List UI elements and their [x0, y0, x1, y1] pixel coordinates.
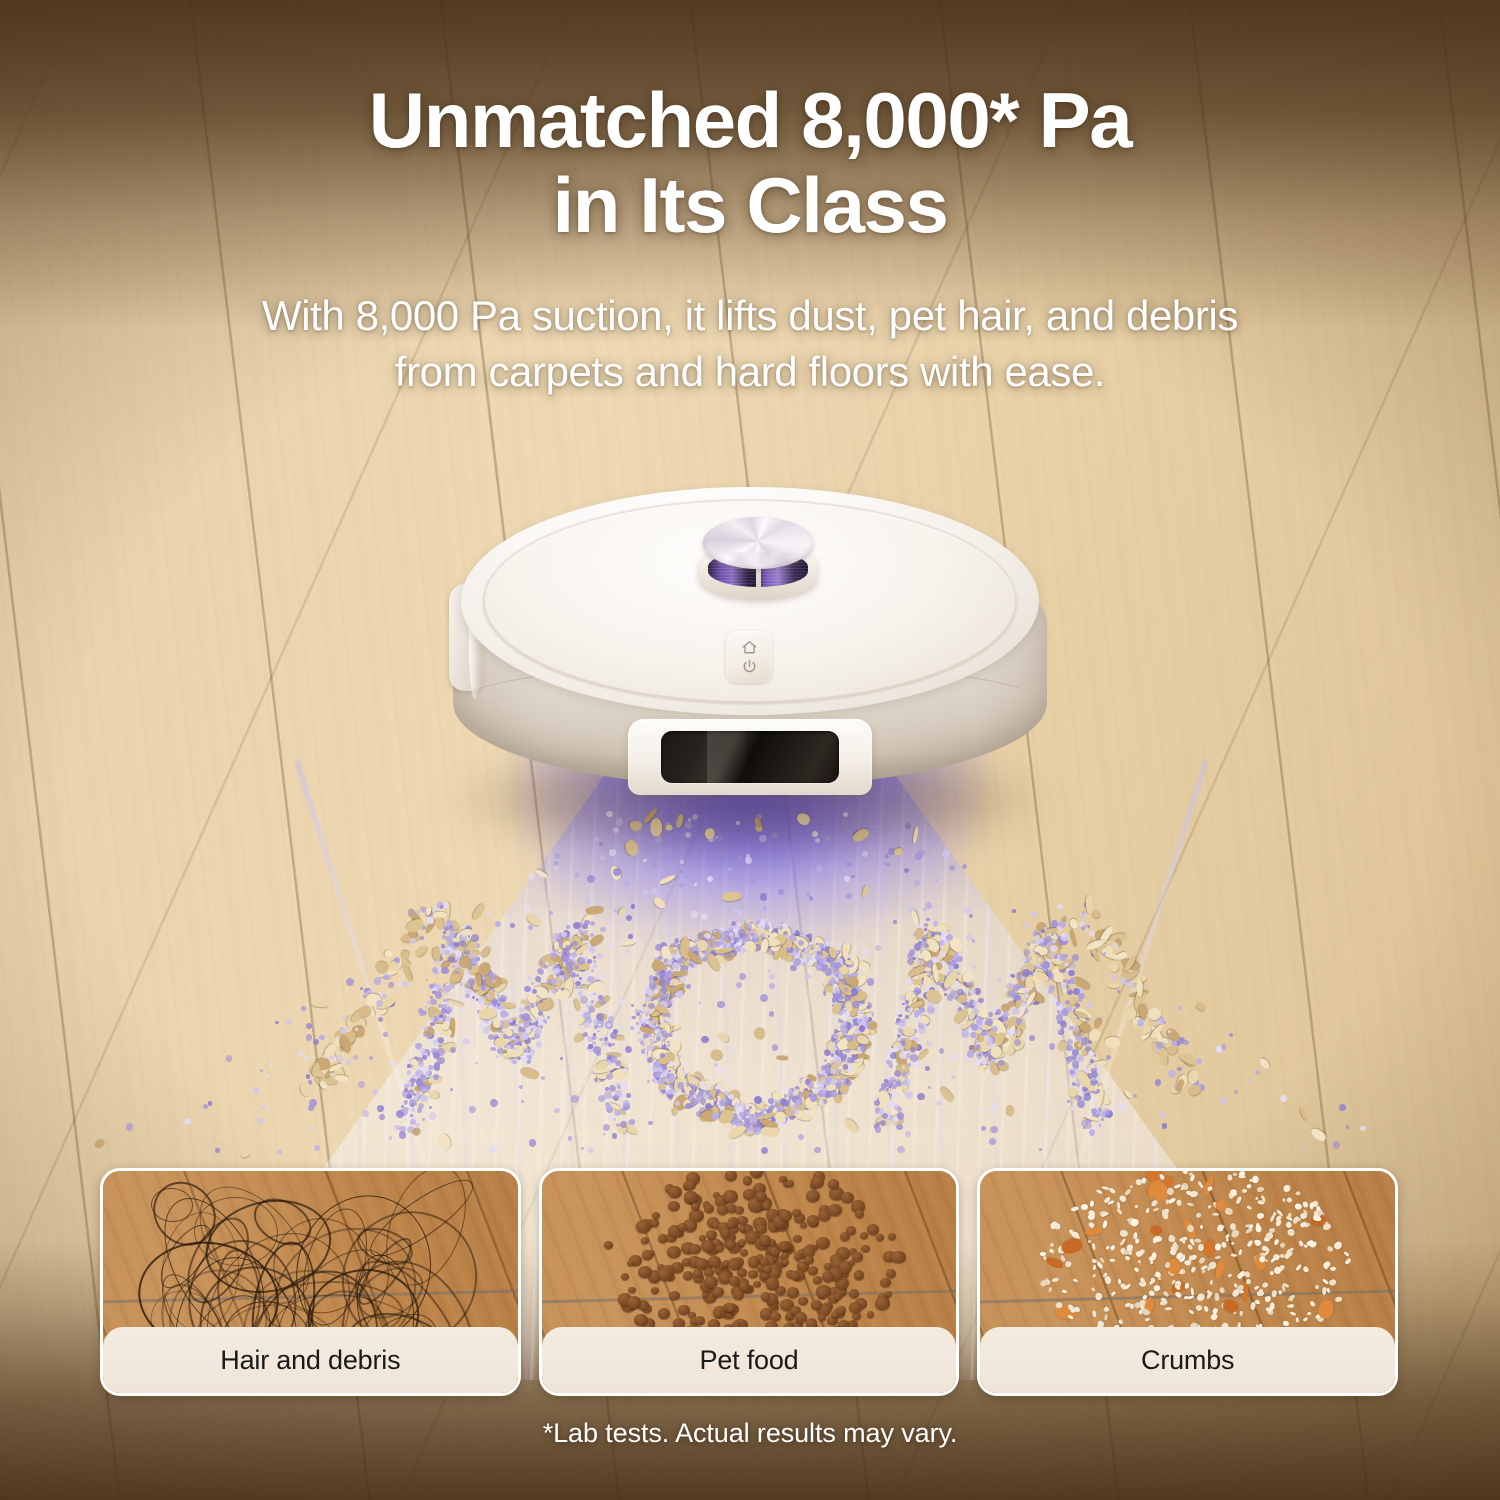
crumb-piece: [1080, 1203, 1088, 1211]
crumb-piece: [1109, 1258, 1115, 1262]
kibble-piece: [669, 1291, 680, 1300]
crumb-piece: [1136, 1179, 1142, 1185]
obstacle-sensor-window: [661, 731, 839, 783]
kibble-piece: [806, 1190, 820, 1202]
kibble-piece: [794, 1253, 801, 1260]
kibble-piece: [717, 1205, 729, 1215]
robot-control-panel[interactable]: [726, 631, 772, 683]
kibble-piece: [651, 1287, 659, 1294]
card-caption-crumbs: Crumbs: [980, 1327, 1395, 1393]
kibble-piece: [880, 1278, 891, 1288]
kibble-piece: [689, 1244, 701, 1255]
kibble-piece: [739, 1225, 747, 1232]
crumb-piece: [1230, 1223, 1236, 1230]
kibble-piece: [651, 1219, 659, 1226]
kibble-piece: [798, 1297, 807, 1305]
kibble-piece: [778, 1241, 790, 1252]
kibble-piece: [840, 1232, 850, 1241]
card-hair-and-debris[interactable]: Hair and debris: [100, 1168, 521, 1396]
kibble-piece: [720, 1228, 731, 1238]
kibble-piece: [704, 1276, 718, 1288]
kibble-piece: [723, 1190, 738, 1203]
crumb-piece: [1240, 1311, 1243, 1316]
kibble-piece: [834, 1293, 842, 1300]
kibble-piece: [668, 1186, 682, 1198]
kibble-piece: [658, 1308, 670, 1318]
kibble-piece: [811, 1176, 824, 1188]
card-caption-hair: Hair and debris: [103, 1327, 518, 1393]
crumb-piece: [1287, 1229, 1294, 1236]
kibble-piece: [782, 1259, 789, 1265]
card-caption-label: Pet food: [700, 1345, 799, 1376]
kibble-piece: [818, 1314, 826, 1321]
power-icon[interactable]: [741, 658, 758, 675]
kibble-piece: [684, 1180, 696, 1191]
kibble-piece: [779, 1176, 786, 1182]
kibble-piece: [628, 1287, 636, 1294]
kibble-piece: [787, 1287, 800, 1298]
kibble-piece: [855, 1210, 864, 1218]
crumb-piece: [1056, 1303, 1063, 1309]
kibble-piece: [766, 1277, 780, 1289]
crumb-piece: [1181, 1238, 1185, 1243]
kibble-piece: [627, 1296, 641, 1309]
kibble-piece: [668, 1201, 680, 1211]
kibble-piece: [693, 1269, 702, 1277]
kibble-piece: [691, 1203, 700, 1211]
kibble-piece: [816, 1237, 830, 1249]
kibble-piece: [849, 1302, 861, 1313]
crumb-piece: [1200, 1225, 1203, 1229]
kibble-piece: [753, 1281, 761, 1288]
kibble-piece: [726, 1240, 736, 1249]
kibble-piece: [740, 1249, 748, 1256]
kibble-piece: [828, 1179, 839, 1189]
kibble-piece: [779, 1210, 791, 1221]
crumb-piece: [1040, 1252, 1046, 1257]
crumb-piece: [1295, 1191, 1300, 1196]
kibble-piece: [712, 1287, 724, 1297]
kibble-piece: [699, 1235, 706, 1241]
kibble-piece: [852, 1312, 861, 1320]
card-pet-food[interactable]: Pet food: [539, 1168, 960, 1396]
scene-vignette-top: [0, 0, 1500, 330]
card-caption-label: Hair and debris: [220, 1345, 400, 1376]
kibble-piece: [667, 1246, 681, 1258]
kibble-piece: [808, 1266, 818, 1275]
kibble-piece: [822, 1271, 834, 1282]
card-crumbs[interactable]: Crumbs: [977, 1168, 1398, 1396]
kibble-piece: [642, 1250, 652, 1259]
kibble-piece: [733, 1290, 744, 1300]
kibble-piece: [790, 1271, 800, 1280]
disclaimer-footnote: *Lab tests. Actual results may vary.: [0, 1418, 1500, 1449]
kibble-piece: [811, 1300, 822, 1310]
kibble-piece: [770, 1312, 781, 1321]
kibble-piece: [706, 1230, 717, 1239]
kibble-piece: [641, 1237, 649, 1244]
crumb-piece: [1269, 1303, 1274, 1311]
kibble-piece: [714, 1310, 722, 1317]
kibble-piece: [888, 1233, 896, 1240]
crumb-piece: [1256, 1196, 1259, 1199]
robot-vacuum: [453, 487, 1047, 837]
kibble-piece: [759, 1235, 771, 1246]
kibble-piece: [658, 1268, 673, 1281]
kibble-piece: [849, 1289, 860, 1298]
crumb-piece: [1138, 1260, 1141, 1263]
kibble-piece: [867, 1224, 879, 1234]
crumb-piece: [1296, 1317, 1299, 1322]
kibble-piece: [638, 1266, 652, 1278]
card-caption-pet-food: Pet food: [542, 1327, 957, 1393]
crumb-piece: [1056, 1223, 1061, 1229]
kibble-piece: [891, 1251, 905, 1264]
kibble-piece: [763, 1265, 771, 1272]
kibble-piece: [743, 1176, 753, 1184]
kibble-piece: [876, 1234, 883, 1240]
kibble-piece: [885, 1291, 892, 1297]
lidar-turret: [699, 517, 817, 603]
debris-type-cards: Hair and debris Pet food: [100, 1168, 1398, 1396]
kibble-piece: [728, 1258, 741, 1270]
kibble-piece: [793, 1235, 801, 1242]
card-caption-label: Crumbs: [1141, 1345, 1234, 1376]
kibble-piece: [787, 1180, 795, 1187]
kibble-piece: [704, 1204, 714, 1213]
robot-front-bumper: [628, 719, 872, 795]
crumb-piece: [1120, 1230, 1128, 1237]
home-icon[interactable]: [741, 639, 758, 656]
kibble-piece: [636, 1220, 650, 1232]
kibble-piece: [795, 1312, 807, 1323]
kibble-piece: [684, 1191, 697, 1203]
lidar-embossed-branding: [717, 553, 799, 564]
kibble-piece: [831, 1312, 839, 1319]
product-feature-banner: Unmatched 8,000* Pa in Its Class With 8,…: [0, 0, 1500, 1500]
